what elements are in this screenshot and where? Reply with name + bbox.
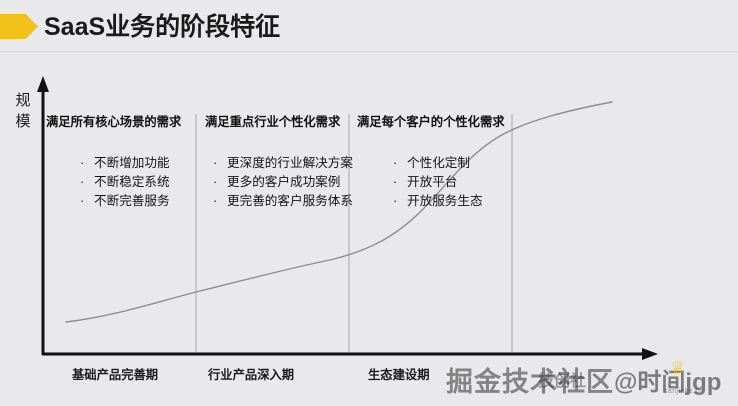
stage-heading: 满足所有核心场景的需求 xyxy=(46,114,196,130)
list-item: ·更完善的客户服务体系 xyxy=(211,192,349,211)
list-item: ·个性化定制 xyxy=(391,154,512,173)
stage-bullet-list: ·更深度的行业解决方案 ·更多的客户成功案例 ·更完善的客户服务体系 xyxy=(211,154,349,211)
stage-panel-1: 满足所有核心场景的需求 ·不断增加功能 ·不断稳定系统 ·不断完善服务 xyxy=(46,114,196,211)
list-item: ·更多的客户成功案例 xyxy=(211,173,349,192)
bullet-glyph: · xyxy=(213,154,217,173)
chart-area: 规模 满足所有核心场景的需求 xyxy=(0,52,738,406)
bullet-glyph: · xyxy=(80,192,84,211)
list-item-label: 更完善的客户服务体系 xyxy=(227,194,353,208)
bullet-glyph: · xyxy=(213,192,217,211)
slide-header: SaaS业务的阶段特征 xyxy=(0,8,420,48)
title-accent-arrow-icon xyxy=(0,14,38,39)
list-item-label: 开放平台 xyxy=(407,175,457,189)
bullet-glyph: · xyxy=(213,173,217,192)
bullet-glyph: · xyxy=(393,192,397,211)
list-item: ·开放平台 xyxy=(391,173,512,192)
list-item-label: 个性化定制 xyxy=(407,156,470,170)
bullet-glyph: · xyxy=(80,173,84,192)
list-item-label: 更多的客户成功案例 xyxy=(227,175,340,189)
list-item: ·不断增加功能 xyxy=(78,154,196,173)
stage-panel-3: 满足每个客户的个性化需求 ·个性化定制 ·开放平台 ·开放服务生态 xyxy=(357,114,512,211)
x-axis-tick-label-2: 行业产品深入期 xyxy=(208,365,294,383)
list-item-label: 不断稳定系统 xyxy=(94,175,170,189)
stage-bullet-list: ·不断增加功能 ·不断稳定系统 ·不断完善服务 xyxy=(78,154,196,211)
x-axis xyxy=(42,348,658,360)
list-item: ·更深度的行业解决方案 xyxy=(211,154,349,173)
list-item: ·开放服务生态 xyxy=(391,192,512,211)
slide-canvas: SaaS业务的阶段特征 规模 xyxy=(0,0,738,406)
list-item-label: 开放服务生态 xyxy=(407,194,483,208)
chart-svg xyxy=(0,52,738,406)
stage-panel-2: 满足重点行业个性化需求 ·更深度的行业解决方案 ·更多的客户成功案例 ·更完善的… xyxy=(205,114,349,211)
list-item-label: 不断增加功能 xyxy=(94,156,170,170)
x-axis-tick-label-3: 生态建设期 xyxy=(368,365,430,383)
x-axis-tick-label-1: 基础产品完善期 xyxy=(72,365,158,383)
page-title: SaaS业务的阶段特征 xyxy=(44,8,280,46)
list-item: ·不断完善服务 xyxy=(78,192,196,211)
list-item: ·不断稳定系统 xyxy=(78,173,196,192)
bullet-glyph: · xyxy=(393,154,397,173)
stage-heading: 满足重点行业个性化需求 xyxy=(205,114,349,130)
bullet-glyph: · xyxy=(393,173,397,192)
stage-heading: 满足每个客户的个性化需求 xyxy=(357,114,512,130)
list-item-label: 不断完善服务 xyxy=(94,194,170,208)
list-item-label: 更深度的行业解决方案 xyxy=(227,156,353,170)
stage-bullet-list: ·个性化定制 ·开放平台 ·开放服务生态 xyxy=(391,154,512,211)
bullet-glyph: · xyxy=(80,154,84,173)
